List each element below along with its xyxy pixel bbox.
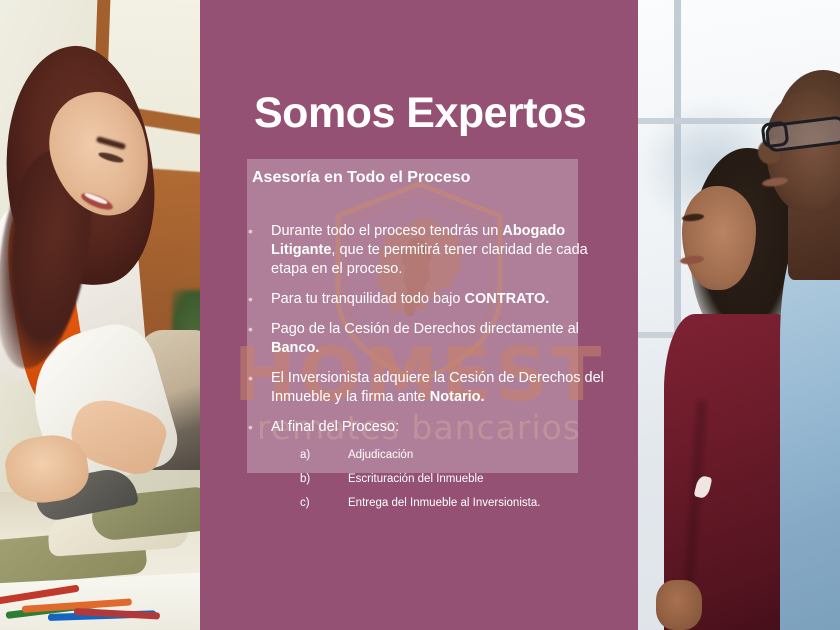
- presentation-slide: HOMEST remates bancarios Somos Expertos …: [0, 0, 840, 630]
- bullet-marker-icon: •: [244, 418, 271, 437]
- photo-couple-by-window: [638, 0, 840, 630]
- sublist-marker: c): [300, 496, 348, 511]
- bullet-text: Durante todo el proceso tendrás un Aboga…: [271, 222, 614, 279]
- sublist-marker: a): [300, 448, 348, 463]
- sublist-marker: b): [300, 472, 348, 487]
- bullet-text: Pago de la Cesión de Derechos directamen…: [271, 320, 614, 358]
- sublist-text: Escrituración del Inmueble: [348, 472, 614, 487]
- bullet-marker-icon: •: [244, 290, 271, 309]
- bullet-list: • Durante todo el proceso tendrás un Abo…: [244, 222, 614, 520]
- slide-content-area: HOMEST remates bancarios Somos Expertos …: [200, 0, 638, 630]
- lettered-sublist: a) Adjudicación b) Escrituración del Inm…: [244, 448, 614, 511]
- list-item: b) Escrituración del Inmueble: [244, 472, 614, 487]
- page-title: Somos Expertos: [254, 89, 586, 138]
- woman-hand-shape: [656, 580, 702, 630]
- denim-shirt-shape: [780, 238, 840, 630]
- eyeglasses-lens-icon: [761, 121, 790, 149]
- bullet-text: El Inversionista adquiere la Cesión de D…: [271, 369, 614, 407]
- list-item: c) Entrega del Inmueble al Inversionista…: [244, 496, 614, 511]
- bullet-text: Para tu tranquilidad todo bajo CONTRATO.: [271, 290, 614, 309]
- list-item: a) Adjudicación: [244, 448, 614, 463]
- section-subtitle: Asesoría en Todo el Proceso: [252, 169, 470, 187]
- list-item: • El Inversionista adquiere la Cesión de…: [244, 369, 614, 407]
- sublist-text: Entrega del Inmueble al Inversionista.: [348, 496, 614, 511]
- list-item: • Durante todo el proceso tendrás un Abo…: [244, 222, 614, 279]
- bullet-marker-icon: •: [244, 320, 271, 358]
- list-item: • Pago de la Cesión de Derechos directam…: [244, 320, 614, 358]
- list-item: • Al final del Proceso:: [244, 418, 614, 437]
- bullet-text: Al final del Proceso:: [271, 418, 614, 437]
- photo-woman-fabric-samples: [0, 0, 200, 630]
- bullet-marker-icon: •: [244, 222, 271, 279]
- sublist-text: Adjudicación: [348, 448, 614, 463]
- bullet-marker-icon: •: [244, 369, 271, 407]
- list-item: • Para tu tranquilidad todo bajo CONTRAT…: [244, 290, 614, 309]
